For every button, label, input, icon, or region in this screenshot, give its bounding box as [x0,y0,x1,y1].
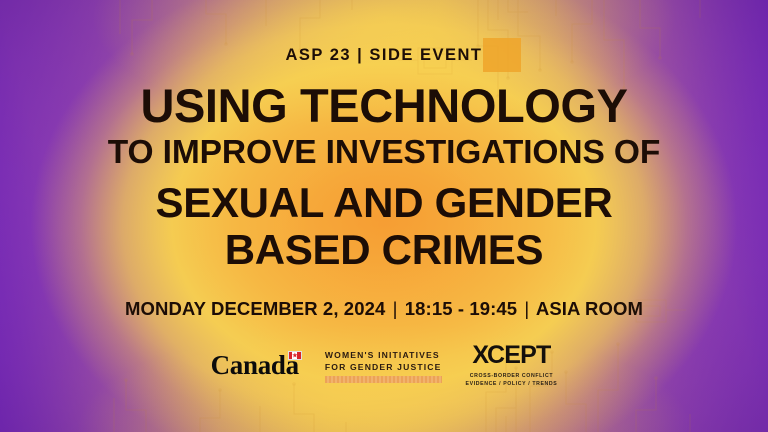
wigj-line-1: WOMEN'S INITIATIVES [325,349,440,361]
title-line-3: SEXUAL AND GENDER [0,179,768,226]
details-separator-1: | [391,298,400,319]
xcept-tagline-2: EVIDENCE / POLICY / TRENDS [466,380,558,388]
event-time: 18:15 - 19:45 [405,298,517,319]
event-banner: ASP 23 | SIDE EVENT USING TECHNOLOGY TO … [0,0,768,432]
title-line-4: BASED CRIMES [0,226,768,273]
wigj-line-2: FOR GENDER JUSTICE [325,361,442,373]
title-line-1: USING TECHNOLOGY [0,82,768,130]
logo-strip: Canada ★ WOMEN'S INITIATIVES FOR GENDER … [211,343,558,388]
eyebrow-label: ASP 23 | SIDE EVENT [286,46,483,65]
event-details-line: MONDAY DECEMBER 2, 2024 | 18:15 - 19:45 … [125,298,643,320]
logo-xcept: XCEPT CROSS-BORDER CONFLICT EVIDENCE / P… [466,343,558,388]
details-separator-2: | [522,298,531,319]
maple-leaf-icon: ★ [292,352,298,359]
logo-womens-initiatives-gender-justice: WOMEN'S INITIATIVES FOR GENDER JUSTICE [325,349,442,383]
eyebrow-highlight-block [483,38,521,72]
xcept-wordmark: XCEPT [472,343,550,368]
banner-content: ASP 23 | SIDE EVENT USING TECHNOLOGY TO … [0,0,768,432]
canada-wordmark-text: Canada [211,352,299,379]
event-title: USING TECHNOLOGY TO IMPROVE INVESTIGATIO… [0,82,768,273]
xcept-mark-x: X [472,341,487,369]
canadian-flag-icon: ★ [288,351,302,360]
title-line-2: TO IMPROVE INVESTIGATIONS OF [0,131,768,175]
eyebrow-row: ASP 23 | SIDE EVENT [0,40,768,70]
wigj-accent-bar [325,376,442,383]
logo-canada-wordmark: Canada ★ [211,352,301,379]
event-date: MONDAY DECEMBER 2, 2024 [125,298,385,319]
xcept-mark-rest: CEPT [487,341,550,369]
xcept-tagline-1: CROSS-BORDER CONFLICT [470,372,553,380]
event-venue: ASIA ROOM [536,298,643,319]
